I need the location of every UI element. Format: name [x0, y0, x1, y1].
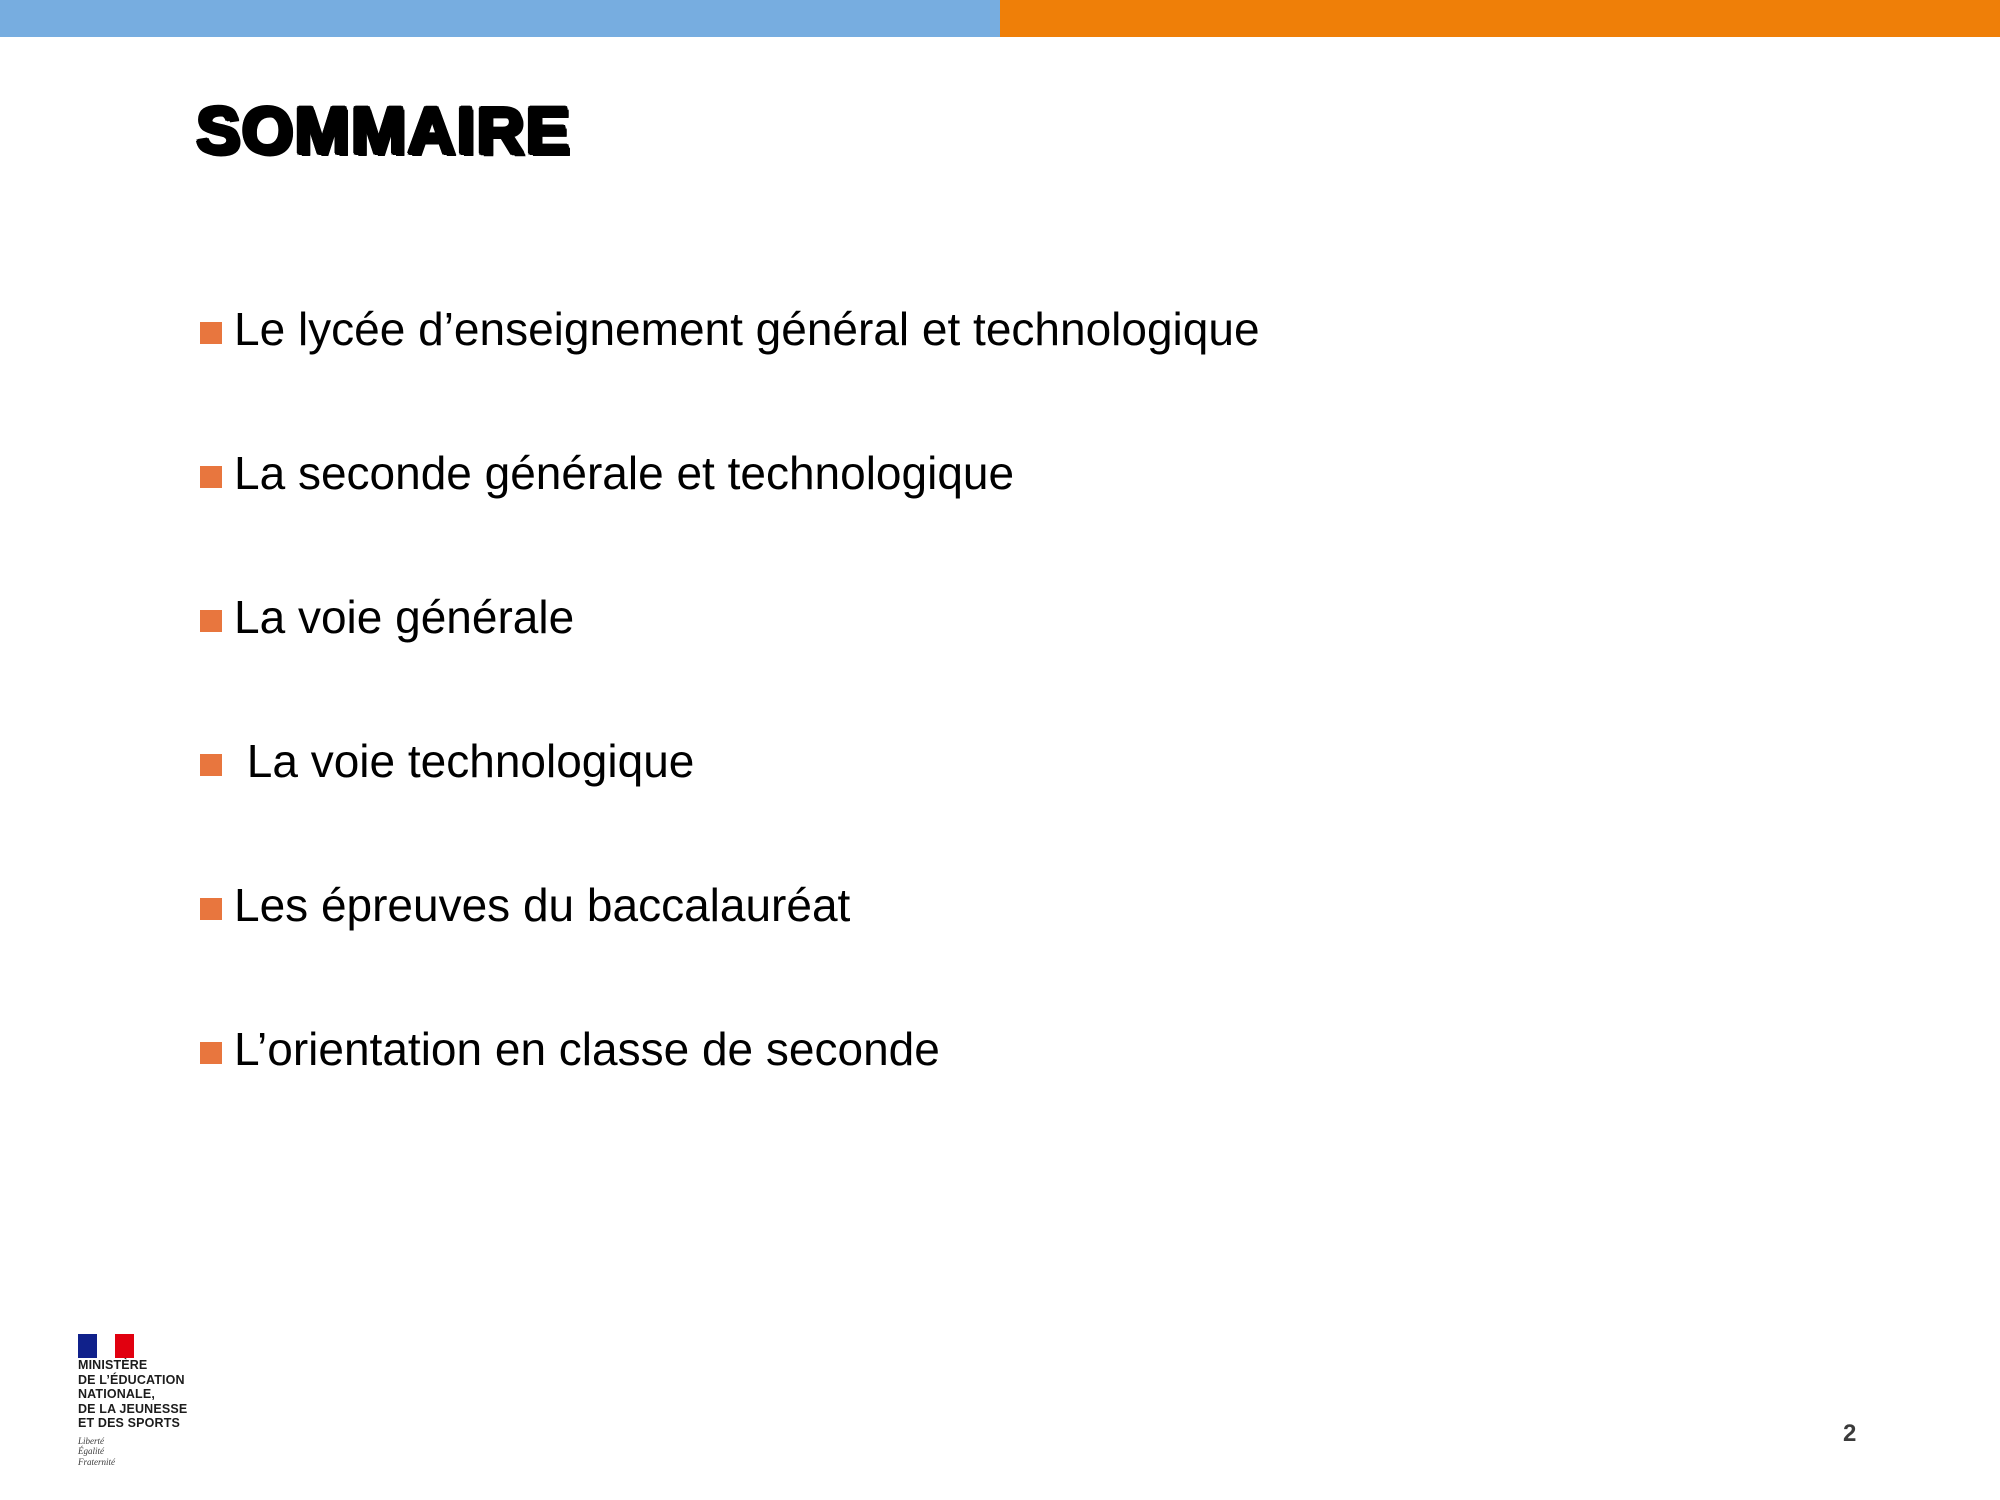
list-item-label: Les épreuves du baccalauréat: [234, 876, 850, 934]
motto-line-3: Fraternité: [78, 1457, 268, 1468]
ministry-name-line-2: DE L’ÉDUCATION: [78, 1373, 268, 1388]
motto-line-1: Liberté: [78, 1436, 268, 1447]
summary-list: Le lycée d’enseignement général et techn…: [200, 300, 1800, 1164]
square-bullet-icon: [200, 466, 222, 488]
motto-line-2: Égalité: [78, 1446, 268, 1457]
flag-red-band: [115, 1334, 134, 1358]
flag-white-band: [97, 1334, 116, 1358]
top-decorative-bar: [0, 0, 2000, 37]
top-bar-blue-segment: [0, 0, 1000, 37]
page-title: SOMMAIRE: [196, 94, 571, 166]
list-item-label: La voie technologique: [234, 732, 694, 790]
list-item[interactable]: Le lycée d’enseignement général et techn…: [200, 300, 1800, 444]
list-item[interactable]: La voie générale: [200, 588, 1800, 732]
french-flag-icon: [78, 1334, 134, 1358]
ministry-name-line-5: ET DES SPORTS: [78, 1416, 268, 1431]
list-item-label: Le lycée d’enseignement général et techn…: [234, 300, 1260, 358]
top-bar-orange-segment: [1000, 0, 2000, 37]
list-item[interactable]: La voie technologique: [200, 732, 1800, 876]
list-item-label: La seconde générale et technologique: [234, 444, 1014, 502]
page-number: 2: [1843, 1420, 1856, 1448]
square-bullet-icon: [200, 898, 222, 920]
list-item[interactable]: Les épreuves du baccalauréat: [200, 876, 1800, 1020]
list-item-label: La voie générale: [234, 588, 574, 646]
ministry-name-line-3: NATIONALE,: [78, 1387, 268, 1402]
square-bullet-icon: [200, 1042, 222, 1064]
ministry-name: MINISTÈRE DE L’ÉDUCATION NATIONALE, DE L…: [78, 1358, 268, 1431]
republic-motto: Liberté Égalité Fraternité: [78, 1436, 268, 1468]
list-item-label: L’orientation en classe de seconde: [234, 1020, 940, 1078]
ministry-name-line-4: DE LA JEUNESSE: [78, 1402, 268, 1417]
ministry-logo: MINISTÈRE DE L’ÉDUCATION NATIONALE, DE L…: [78, 1334, 268, 1467]
list-item[interactable]: La seconde générale et technologique: [200, 444, 1800, 588]
ministry-name-line-1: MINISTÈRE: [78, 1358, 268, 1373]
square-bullet-icon: [200, 610, 222, 632]
list-item[interactable]: L’orientation en classe de seconde: [200, 1020, 1800, 1164]
square-bullet-icon: [200, 754, 222, 776]
flag-blue-band: [78, 1334, 97, 1358]
square-bullet-icon: [200, 322, 222, 344]
